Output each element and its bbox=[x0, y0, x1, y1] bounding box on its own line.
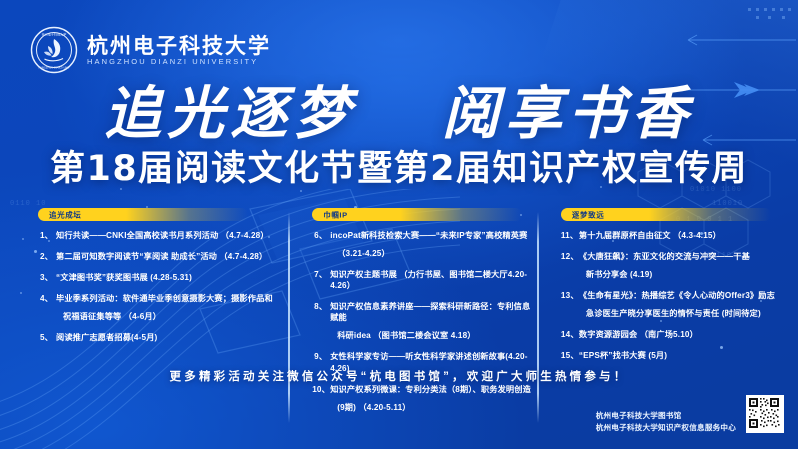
list-item: 4、 毕业季系列活动：软件通毕业季创意摄影大赛；摄影作品和 祝福语征集等等 （4… bbox=[38, 293, 282, 322]
list-item: 2、 第二届可知数字阅读节“享阅读 助成长”活动 （4.7-4.28） bbox=[38, 251, 282, 262]
item-number: 4、 bbox=[38, 293, 53, 304]
item-line-2: 祝福语征集等等 （4-6月） bbox=[56, 311, 282, 322]
column-divider-2 bbox=[537, 212, 539, 423]
list-item: 10、 知识产权系列微课：专利分类法（8期）、职务发明创造 (9期) （4.20… bbox=[312, 384, 531, 413]
list-item: 7、 知识产权主题书展 （力行书屋、图书馆二楼大厅4.20-4.26） bbox=[312, 269, 531, 291]
item-number: 1、 bbox=[38, 230, 53, 241]
item-text: 数字资源游园会 （南广场5.10） bbox=[579, 329, 776, 340]
column-1-badge: 追光成坛 bbox=[38, 208, 248, 221]
item-line-1: 知行共读——CNKI全国高校读书月系列活动 （4.7-4.28） bbox=[56, 231, 269, 240]
item-line-2: （3.21-4.25） bbox=[330, 248, 531, 259]
column-3-badge: 逐梦致远 bbox=[561, 208, 771, 221]
item-number: 7、 bbox=[312, 269, 327, 280]
item-number: 8、 bbox=[312, 301, 327, 312]
item-line-1: 知识产权系列微课：专利分类法（8期）、职务发明创造 bbox=[330, 385, 531, 394]
list-item: 12、 《大唐狂飙》：东亚文化的交流与冲突——干基 新书分享会 (4.19) bbox=[561, 251, 776, 280]
svg-text:HANGZHOU DIANZI UNIV: HANGZHOU DIANZI UNIV bbox=[38, 66, 70, 70]
activity-column-1: 追光成坛 1、 知行共读——CNKI全国高校读书月系列活动 （4.7-4.28）… bbox=[38, 208, 282, 353]
activity-column-3: 逐梦致远 11、 第十九届群原杯自由征文 （4.3-4.15） 12、 《大唐狂… bbox=[545, 208, 776, 371]
item-line-1: incoPat新科技检索大赛——“未来IP专家”高校精英赛 bbox=[330, 231, 527, 240]
item-line-1: 数字资源游园会 （南广场5.10） bbox=[579, 330, 698, 339]
university-name-cn: 杭州电子科技大学 bbox=[87, 35, 271, 56]
list-item: 5、 阅读推广志愿者招募(4-5月) bbox=[38, 332, 282, 343]
item-text: 知行共读——CNKI全国高校读书月系列活动 （4.7-4.28） bbox=[56, 230, 282, 241]
list-item: 8、 知识产权信息素养讲座——探索科研新路径：专利信息赋能 科研idea （图书… bbox=[312, 301, 531, 341]
item-line-2: (9期) （4.20-5.11） bbox=[330, 402, 531, 413]
list-item: 15、 “EPS杯”找书大赛 (5月) bbox=[561, 350, 776, 361]
item-text: 《生命有星光》：热播综艺《令人心动的Offer3》励志 急诊医生产晓分享医生的情… bbox=[579, 290, 776, 319]
university-name-block: 杭州电子科技大学 HANGZHOU DIANZI UNIVERSITY bbox=[87, 35, 271, 66]
item-text: 毕业季系列活动：软件通毕业季创意摄影大赛；摄影作品和 祝福语征集等等 （4-6月… bbox=[56, 293, 282, 322]
item-line-1: 第二届可知数字阅读节“享阅读 助成长”活动 （4.7-4.28） bbox=[56, 252, 267, 261]
item-text: 知识产权信息素养讲座——探索科研新路径：专利信息赋能 科研idea （图书馆二楼… bbox=[330, 301, 531, 341]
list-item: 1、 知行共读——CNKI全国高校读书月系列活动 （4.7-4.28） bbox=[38, 230, 282, 241]
item-text: “EPS杯”找书大赛 (5月) bbox=[579, 350, 776, 361]
item-number: 13、 bbox=[561, 290, 576, 301]
item-line-1: 毕业季系列活动：软件通毕业季创意摄影大赛；摄影作品和 bbox=[56, 294, 273, 303]
column-1-badge-label: 追光成坛 bbox=[49, 211, 81, 219]
university-name-en: HANGZHOU DIANZI UNIVERSITY bbox=[87, 58, 271, 66]
item-text: 《大唐狂飙》：东亚文化的交流与冲突——干基 新书分享会 (4.19) bbox=[579, 251, 776, 280]
item-line-1: 《大唐狂飙》：东亚文化的交流与冲突——干基 bbox=[579, 252, 750, 261]
column-divider-1 bbox=[288, 212, 290, 423]
item-line-1: 知识产权信息素养讲座——探索科研新路径：专利信息赋能 bbox=[330, 302, 530, 322]
item-number: 11、 bbox=[561, 230, 576, 241]
column-2-badge: 巾帼IP bbox=[312, 208, 522, 221]
calligraphy-title-left: 追光逐梦 bbox=[104, 80, 356, 147]
organizer-line-1: 杭州电子科技大学图书馆 bbox=[596, 410, 736, 421]
item-number: 14、 bbox=[561, 329, 576, 340]
item-number: 2、 bbox=[38, 251, 53, 262]
item-number: 5、 bbox=[38, 332, 53, 343]
activity-column-2: 巾帼IP 6、 incoPat新科技检索大赛——“未来IP专家”高校精英赛 （3… bbox=[296, 208, 531, 423]
item-number: 12、 bbox=[561, 251, 576, 262]
item-line-1: 阅读推广志愿者招募(4-5月) bbox=[56, 333, 157, 342]
list-item: 13、 《生命有星光》：热播综艺《令人心动的Offer3》励志 急诊医生产晓分享… bbox=[561, 290, 776, 319]
item-line-2: 科研idea （图书馆二楼会议室 4.18） bbox=[330, 330, 531, 341]
item-number: 6、 bbox=[312, 230, 327, 241]
subtitle-banner: 第18届阅读文化节暨第2届知识产权宣传周 bbox=[0, 148, 798, 190]
list-item: 11、 第十九届群原杯自由征文 （4.3-4.15） bbox=[561, 230, 776, 241]
item-text: “文津图书奖”获奖图书展 (4.28-5.31) bbox=[56, 272, 282, 283]
item-text: 第十九届群原杯自由征文 （4.3-4.15） bbox=[579, 230, 776, 241]
item-text: incoPat新科技检索大赛——“未来IP专家”高校精英赛 （3.21-4.25… bbox=[330, 230, 531, 259]
item-text: 第二届可知数字阅读节“享阅读 助成长”活动 （4.7-4.28） bbox=[56, 251, 282, 262]
item-number: 15、 bbox=[561, 350, 576, 361]
item-number: 9、 bbox=[312, 351, 327, 362]
item-line-2: 新书分享会 (4.19) bbox=[579, 269, 776, 280]
list-item: 14、 数字资源游园会 （南广场5.10） bbox=[561, 329, 776, 340]
item-line-1: “EPS杯”找书大赛 (5月) bbox=[579, 351, 667, 360]
item-line-1: “文津图书奖”获奖图书展 (4.28-5.31) bbox=[56, 273, 192, 282]
footer-call-to-action: 更多精彩活动关注微信公众号“杭电图书馆”，欢迎广大师生热情参与！ bbox=[0, 368, 798, 384]
binary-decor-5: 0110 10 bbox=[10, 200, 46, 208]
list-item: 3、 “文津图书奖”获奖图书展 (4.28-5.31) bbox=[38, 272, 282, 283]
university-seal-icon: 杭州电子科技大学 HANGZHOU DIANZI UNIV bbox=[30, 26, 78, 74]
item-text: 知识产权主题书展 （力行书屋、图书馆二楼大厅4.20-4.26） bbox=[330, 269, 531, 291]
item-line-2: 急诊医生产晓分享医生的情怀与责任 (时间待定) bbox=[579, 308, 776, 319]
item-number: 10、 bbox=[312, 384, 327, 395]
column-3-badge-label: 逐梦致远 bbox=[572, 211, 604, 219]
subtitle-text: 第18届阅读文化节暨第2届知识产权宣传周 bbox=[50, 148, 748, 190]
list-item: 6、 incoPat新科技检索大赛——“未来IP专家”高校精英赛 （3.21-4… bbox=[312, 230, 531, 259]
calligraphy-title: 追光逐梦 阅享书香 bbox=[0, 84, 798, 144]
item-text: 阅读推广志愿者招募(4-5月) bbox=[56, 332, 282, 343]
poster-root: 01010 1100 110010 0 1 0 0 1 1 10110 0110… bbox=[0, 0, 798, 449]
organizer-line-2: 杭州电子科技大学知识产权信息服务中心 bbox=[596, 422, 736, 433]
item-line-1: 《生命有星光》：热播综艺《令人心动的Offer3》励志 bbox=[579, 291, 775, 300]
item-number: 3、 bbox=[38, 272, 53, 283]
organizer-block: 杭州电子科技大学图书馆 杭州电子科技大学知识产权信息服务中心 bbox=[596, 410, 736, 433]
binary-decor-2: 110010 bbox=[712, 200, 743, 208]
item-text: 知识产权系列微课：专利分类法（8期）、职务发明创造 (9期) （4.20-5.1… bbox=[330, 384, 531, 413]
item-line-1: 第十九届群原杯自由征文 （4.3-4.15） bbox=[579, 231, 721, 240]
svg-text:杭州电子科技大学: 杭州电子科技大学 bbox=[42, 32, 67, 37]
activity-columns: 追光成坛 1、 知行共读——CNKI全国高校读书月系列活动 （4.7-4.28）… bbox=[38, 208, 776, 423]
qr-code-icon[interactable] bbox=[746, 395, 784, 433]
column-2-badge-label: 巾帼IP bbox=[323, 211, 348, 219]
university-branding: 杭州电子科技大学 HANGZHOU DIANZI UNIV 杭州电子科技大学 H… bbox=[30, 26, 271, 74]
item-line-1: 知识产权主题书展 （力行书屋、图书馆二楼大厅4.20-4.26） bbox=[330, 270, 527, 290]
calligraphy-title-right: 阅享书香 bbox=[442, 80, 694, 147]
